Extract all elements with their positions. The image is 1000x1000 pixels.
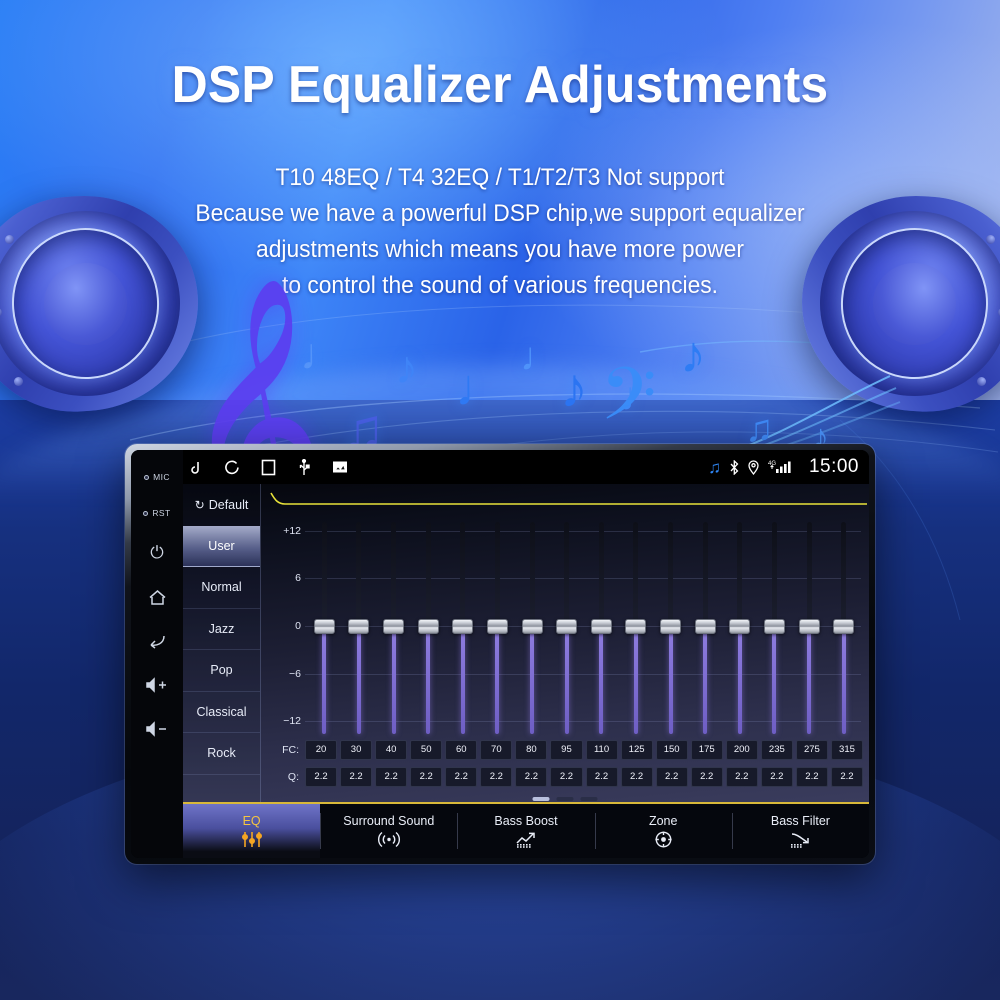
fader-track-upper [807, 522, 812, 626]
preset-label: Normal [201, 580, 241, 594]
q-cell[interactable]: 2.2 [445, 767, 477, 787]
fader-knob[interactable] [625, 619, 646, 634]
page-title: DSP Equalizer Adjustments [20, 55, 980, 115]
fader-track-upper [322, 522, 327, 626]
q-cell[interactable]: 2.2 [621, 767, 653, 787]
page-dot[interactable] [557, 797, 574, 801]
q-cell[interactable]: 2.2 [375, 767, 407, 787]
usb-icon[interactable] [298, 459, 310, 476]
zone-icon [654, 831, 673, 848]
equalizer-panel: ↻ Default User Normal Jazz Pop Classical… [183, 484, 869, 802]
fader-track-upper [633, 522, 638, 626]
fader-knob[interactable] [833, 619, 854, 634]
eq-fader[interactable] [619, 518, 654, 734]
fader-knob[interactable] [729, 619, 750, 634]
fc-cells: 2030405060708095110125150175200235275315 [305, 740, 863, 760]
tab-bass-filter[interactable]: Bass Filter [732, 804, 869, 858]
fader-track-lower [738, 626, 742, 734]
eq-fader[interactable] [688, 518, 723, 734]
eq-fader[interactable] [826, 518, 861, 734]
fader-track-lower [322, 626, 326, 734]
tab-label: Bass Filter [771, 814, 830, 828]
tab-bass-boost[interactable]: Bass Boost [457, 804, 594, 858]
fader-knob[interactable] [348, 619, 369, 634]
fc-cell[interactable]: 40 [375, 740, 407, 760]
q-cell[interactable]: 2.2 [796, 767, 828, 787]
bass-filter-icon [789, 831, 811, 848]
q-row: Q: 2.22.22.22.22.22.22.22.22.22.22.22.22… [261, 765, 863, 788]
fader-track-lower [669, 626, 673, 734]
fc-cell[interactable]: 60 [445, 740, 477, 760]
page-indicator [533, 797, 598, 801]
y-axis-label: 6 [267, 572, 301, 584]
eq-fader[interactable] [653, 518, 688, 734]
page-dot[interactable] [533, 797, 550, 801]
q-cell[interactable]: 2.2 [410, 767, 442, 787]
fc-cell[interactable]: 50 [410, 740, 442, 760]
fc-cell[interactable]: 275 [796, 740, 828, 760]
fc-cell[interactable]: 175 [691, 740, 723, 760]
q-cell[interactable]: 2.2 [726, 767, 758, 787]
fc-cell[interactable]: 110 [586, 740, 618, 760]
preset-jazz[interactable]: Jazz [183, 609, 260, 651]
reset-icon: ↻ [195, 498, 205, 512]
speaker-bolt [986, 235, 995, 244]
fader-track-lower [772, 626, 776, 734]
preset-pop[interactable]: Pop [183, 650, 260, 692]
q-cell[interactable]: 2.2 [515, 767, 547, 787]
home-icon[interactable] [131, 575, 183, 619]
bass-clef-icon: 𝄢 [600, 352, 657, 456]
q-cell[interactable]: 2.2 [831, 767, 863, 787]
speaker-bolt [5, 235, 14, 244]
eq-fader[interactable] [446, 518, 481, 734]
back-icon[interactable] [131, 619, 183, 663]
fader-track-lower [807, 626, 811, 734]
fader-track-upper [426, 522, 431, 626]
fader-track-lower [634, 626, 638, 734]
fader-knob[interactable] [487, 619, 508, 634]
speaker-bolt [977, 377, 986, 386]
touchscreen: ♫ 4G 15:00 [183, 450, 869, 858]
eq-fader[interactable] [549, 518, 584, 734]
fader-bank [307, 518, 861, 734]
q-cells: 2.22.22.22.22.22.22.22.22.22.22.22.22.22… [305, 767, 863, 787]
power-icon[interactable]: ⏻ [131, 531, 183, 575]
fc-cell[interactable]: 30 [340, 740, 372, 760]
page-dot[interactable] [581, 797, 598, 801]
fader-track-lower [392, 626, 396, 734]
fc-row: FC: 203040506070809511012515017520023527… [261, 738, 863, 761]
volume-down-icon[interactable] [131, 707, 183, 751]
y-axis-label: −6 [267, 668, 301, 680]
nav-back-icon[interactable] [189, 460, 202, 475]
subtitle-line-4: to control the sound of various frequenc… [25, 268, 975, 304]
recents-icon[interactable] [261, 459, 276, 476]
fc-cell[interactable]: 95 [550, 740, 582, 760]
clock: 15:00 [809, 456, 859, 478]
y-axis-label: +12 [267, 525, 301, 537]
fader-knob[interactable] [383, 619, 404, 634]
music-note-icon: ♫ [708, 459, 721, 476]
preset-label: Rock [207, 746, 235, 760]
fc-cell[interactable]: 235 [761, 740, 793, 760]
fader-track-upper [460, 522, 465, 626]
fc-cell[interactable]: 20 [305, 740, 337, 760]
eq-fader[interactable] [307, 518, 342, 734]
eq-parameter-rows: FC: 203040506070809511012515017520023527… [261, 738, 863, 792]
q-cell[interactable]: 2.2 [340, 767, 372, 787]
fc-cell[interactable]: 125 [621, 740, 653, 760]
volume-up-icon[interactable] [131, 663, 183, 707]
q-cell[interactable]: 2.2 [586, 767, 618, 787]
tab-label: Zone [649, 814, 678, 828]
fader-track-lower [426, 626, 430, 734]
fader-knob[interactable] [314, 619, 335, 634]
fader-track-upper [703, 522, 708, 626]
car-head-unit: MIC RST ⏻ [125, 444, 875, 864]
q-cell[interactable]: 2.2 [480, 767, 512, 787]
fader-knob[interactable] [418, 619, 439, 634]
rst-label: RST [152, 508, 170, 518]
fader-track-lower [565, 626, 569, 734]
eq-fader[interactable] [792, 518, 827, 734]
y-axis-label: 0 [267, 620, 301, 632]
reset-indicator[interactable]: RST [131, 495, 183, 531]
fader-track-upper [356, 522, 361, 626]
fader-track-upper [564, 522, 569, 626]
fc-cell[interactable]: 200 [726, 740, 758, 760]
fader-track-upper [495, 522, 500, 626]
tab-label: Bass Boost [494, 814, 557, 828]
q-cell[interactable]: 2.2 [691, 767, 723, 787]
eq-plot: +12 6 0 −6 −12 [261, 518, 863, 734]
eq-response-curve [269, 491, 869, 513]
subtitle-line-2: Because we have a powerful DSP chip,we s… [25, 196, 975, 232]
hardware-key-column: MIC RST ⏻ [131, 450, 183, 858]
preset-default[interactable]: ↻ Default [183, 484, 260, 526]
fader-track-lower [530, 626, 534, 734]
status-bar: ♫ 4G 15:00 [183, 450, 869, 484]
page-subtitle: T10 48EQ / T4 32EQ / T1/T2/T3 Not suppor… [25, 160, 975, 304]
q-row-label: Q: [261, 771, 305, 783]
tab-label: EQ [243, 814, 261, 828]
mic-label: MIC [153, 472, 170, 482]
fader-knob[interactable] [522, 619, 543, 634]
fader-knob[interactable] [799, 619, 820, 634]
fader-knob[interactable] [591, 619, 612, 634]
preset-list: ↻ Default User Normal Jazz Pop Classical… [183, 484, 261, 802]
preset-classical[interactable]: Classical [183, 692, 260, 734]
equalizer-icon [241, 831, 263, 848]
fc-cell[interactable]: 80 [515, 740, 547, 760]
fader-track-upper [599, 522, 604, 626]
fc-cell[interactable]: 315 [831, 740, 863, 760]
fc-cell[interactable]: 150 [656, 740, 688, 760]
preset-rock[interactable]: Rock [183, 733, 260, 775]
fader-track-lower [842, 626, 846, 734]
fader-track-lower [357, 626, 361, 734]
surround-icon [377, 831, 401, 848]
eq-fader[interactable] [480, 518, 515, 734]
bass-boost-icon [515, 831, 537, 848]
fader-knob[interactable] [660, 619, 681, 634]
subtitle-line-3: adjustments which means you have more po… [25, 232, 975, 268]
eq-fader[interactable] [757, 518, 792, 734]
eq-fader[interactable] [342, 518, 377, 734]
tab-eq[interactable]: EQ [183, 804, 320, 858]
fader-knob[interactable] [556, 619, 577, 634]
fader-knob[interactable] [764, 619, 785, 634]
fader-track-upper [737, 522, 742, 626]
fc-row-label: FC: [261, 744, 305, 756]
status-bar-left-icons [189, 459, 348, 476]
q-cell[interactable]: 2.2 [550, 767, 582, 787]
fader-track-upper [530, 522, 535, 626]
subtitle-line-1: T10 48EQ / T4 32EQ / T1/T2/T3 Not suppor… [25, 160, 975, 196]
bluetooth-icon [730, 460, 739, 475]
preset-label: User [208, 539, 234, 553]
speaker-bolt [14, 377, 23, 386]
q-cell[interactable]: 2.2 [305, 767, 337, 787]
fader-track-lower [495, 626, 499, 734]
tab-surround-sound[interactable]: Surround Sound [320, 804, 457, 858]
eq-fader[interactable] [411, 518, 446, 734]
eq-fader[interactable] [515, 518, 550, 734]
tab-label: Surround Sound [343, 814, 434, 828]
preset-label: Default [209, 498, 249, 512]
screenshot-icon[interactable] [332, 460, 348, 474]
fader-track-lower [703, 626, 707, 734]
preset-normal[interactable]: Normal [183, 567, 260, 609]
fc-cell[interactable]: 70 [480, 740, 512, 760]
preset-user[interactable]: User [183, 526, 260, 568]
eq-fader[interactable] [376, 518, 411, 734]
mic-indicator: MIC [131, 459, 183, 495]
fader-track-upper [772, 522, 777, 626]
head-unit-screen-area: MIC RST ⏻ [131, 450, 869, 858]
fader-track-upper [391, 522, 396, 626]
signal-4g-icon: 4G [768, 459, 794, 475]
nav-home-icon[interactable] [224, 460, 239, 475]
eq-fader[interactable] [723, 518, 758, 734]
fader-track-lower [461, 626, 465, 734]
y-axis-label: −12 [267, 715, 301, 727]
fader-knob[interactable] [452, 619, 473, 634]
eq-graph-area: +12 6 0 −6 −12 FC: 203040506070809511012… [261, 484, 869, 802]
fader-track-lower [599, 626, 603, 734]
q-cell[interactable]: 2.2 [761, 767, 793, 787]
fader-track-upper [841, 522, 846, 626]
status-bar-right-icons: ♫ 4G 15:00 [708, 456, 859, 478]
bottom-tab-bar: EQ Surround Sound [183, 802, 869, 858]
preset-label: Pop [210, 663, 232, 677]
q-cell[interactable]: 2.2 [656, 767, 688, 787]
eq-fader[interactable] [584, 518, 619, 734]
fader-knob[interactable] [695, 619, 716, 634]
tab-zone[interactable]: Zone [595, 804, 732, 858]
location-icon [748, 460, 759, 475]
preset-label: Classical [196, 705, 246, 719]
fader-track-upper [668, 522, 673, 626]
preset-label: Jazz [209, 622, 235, 636]
